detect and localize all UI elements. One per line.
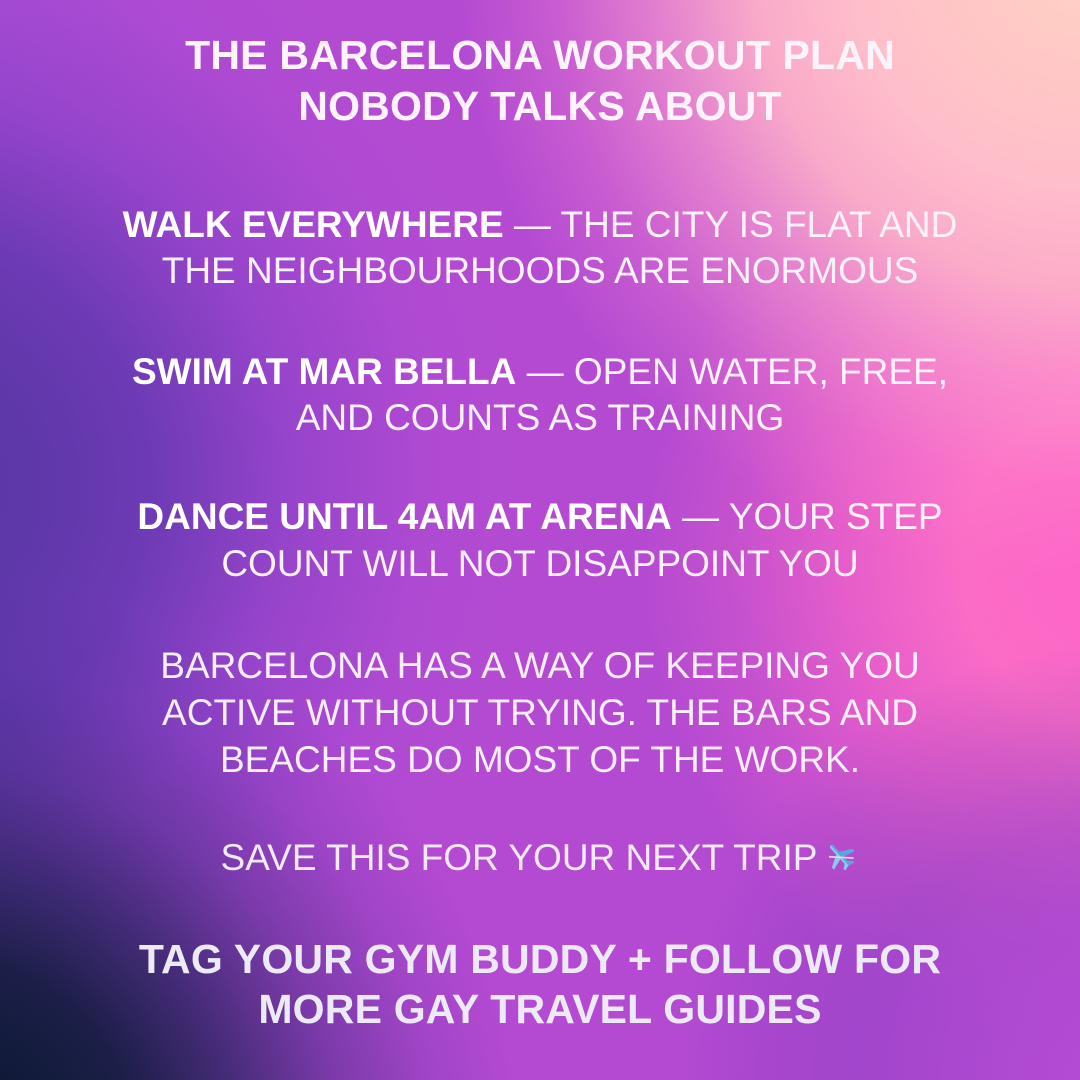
call-to-action: TAG YOUR GYM BUDDY + FOLLOW FOR MORE GAY… xyxy=(130,934,950,1034)
tip-separator: — xyxy=(516,351,574,392)
tip-item-dance: DANCE UNTIL 4AM AT ARENA — YOUR STEP COU… xyxy=(120,494,960,587)
tip-separator: — xyxy=(672,496,729,537)
tip-lead-swim: SWIM AT MAR BELLA xyxy=(132,351,516,392)
save-prompt-text: SAVE THIS FOR YOUR NEXT TRIP xyxy=(221,837,818,878)
airplane-icon xyxy=(823,838,859,886)
tip-item-walk: WALK EVERYWHERE — THE CITY IS FLAT AND T… xyxy=(120,202,960,295)
tip-lead-walk: WALK EVERYWHERE xyxy=(123,204,504,245)
poster-canvas: THE BARCELONA WORKOUT PLAN NOBODY TALKS … xyxy=(0,0,1080,1080)
closing-paragraph: BARCELONA HAS A WAY OF KEEPING YOU ACTIV… xyxy=(120,643,960,783)
tip-lead-dance: DANCE UNTIL 4AM AT ARENA xyxy=(137,496,671,537)
tip-item-swim: SWIM AT MAR BELLA — OPEN WATER, FREE, AN… xyxy=(120,349,960,442)
tip-separator: — xyxy=(504,204,561,245)
page-title: THE BARCELONA WORKOUT PLAN NOBODY TALKS … xyxy=(160,30,920,132)
save-prompt: SAVE THIS FOR YOUR NEXT TRIP xyxy=(221,835,860,886)
poster-content: THE BARCELONA WORKOUT PLAN NOBODY TALKS … xyxy=(0,0,1080,1080)
